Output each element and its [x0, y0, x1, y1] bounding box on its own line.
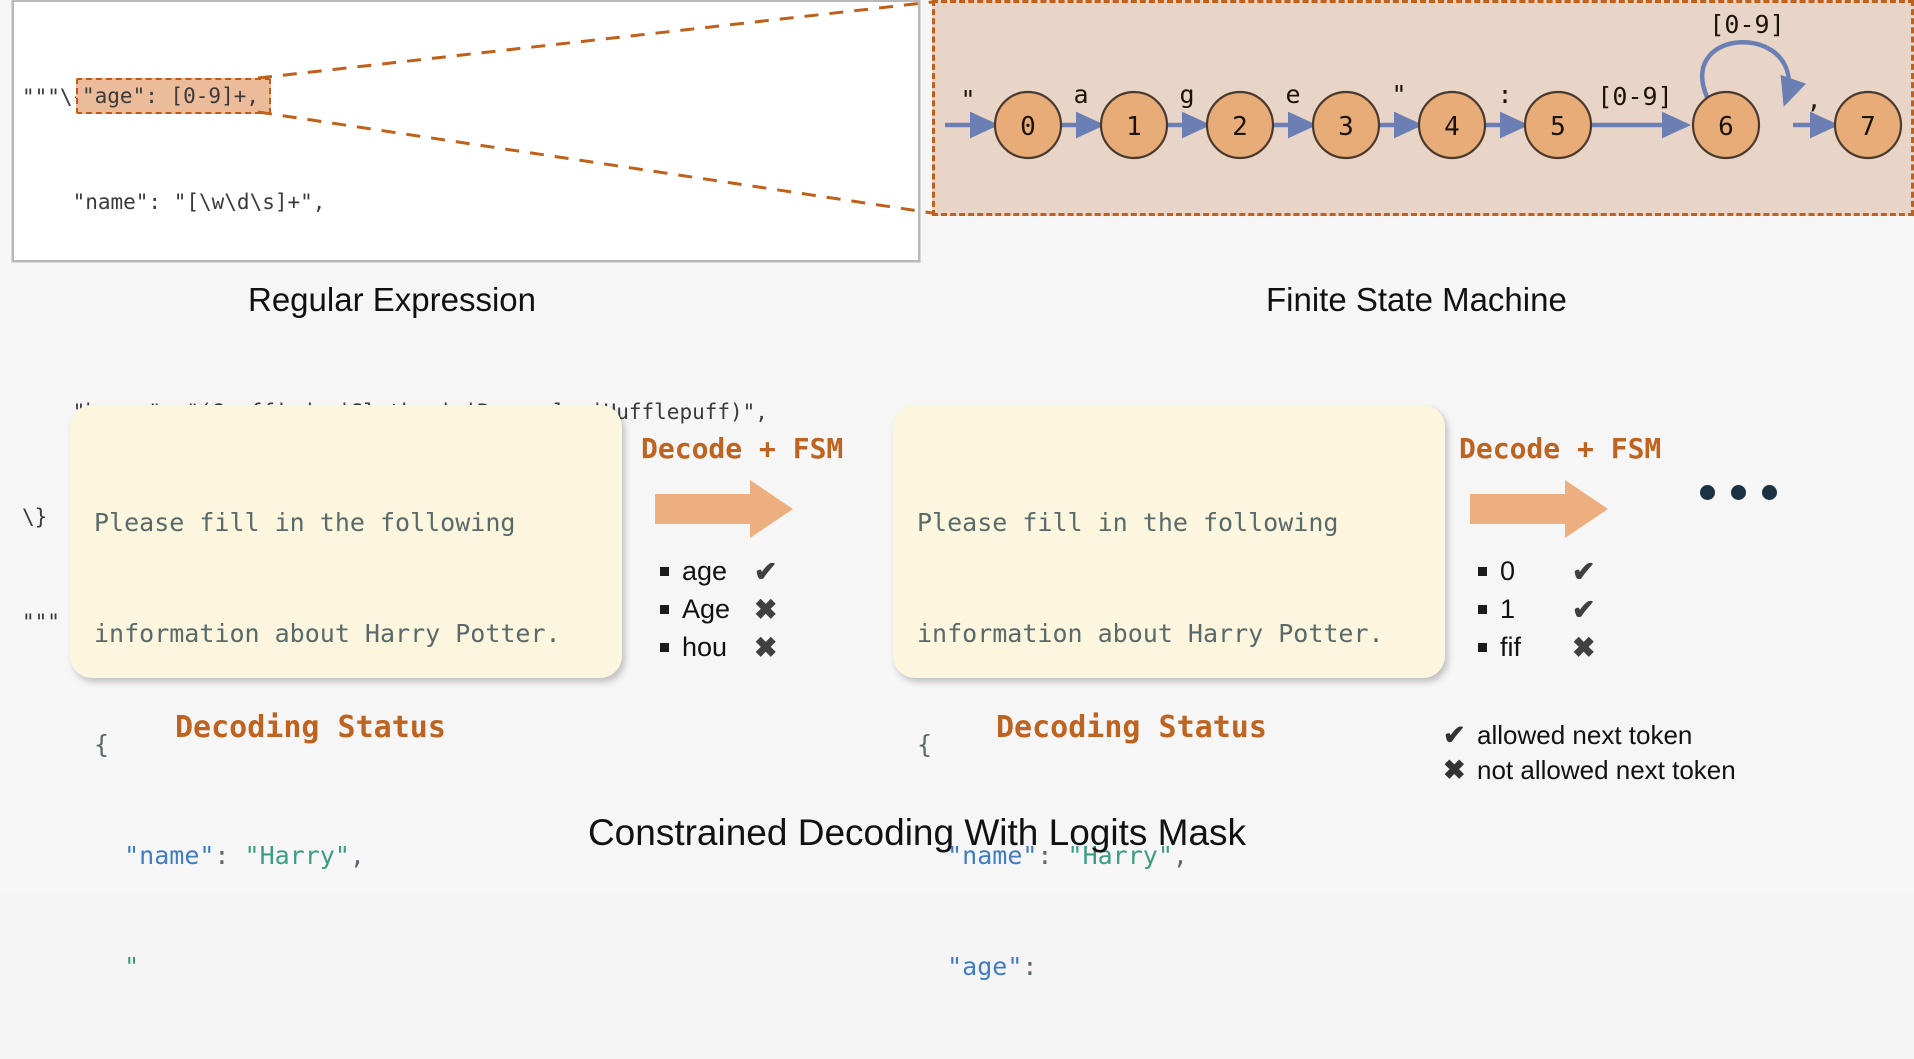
bullet-icon — [1478, 605, 1487, 614]
fsm-panel: 0 1 2 3 4 5 6 7 " a g e " : [0-9] [0-9] … — [932, 0, 1914, 216]
fsm-node-label-1: 1 — [1126, 112, 1142, 142]
prompt-line-2a: Please fill in the following — [917, 504, 1384, 541]
fsm-edge-label-6-7: , — [1806, 85, 1821, 114]
regex-age-highlight-text: "age": [0-9]+, — [82, 80, 259, 113]
token-row: 0 ✔ — [1478, 552, 1595, 590]
cross-icon: ✖ — [754, 631, 777, 664]
legend-not-allowed-text: not allowed next token — [1477, 755, 1736, 786]
fsm-node-label-2: 2 — [1232, 112, 1248, 142]
regex-line-1: "name": "[\w\d\s]+", — [22, 185, 768, 220]
fsm-node-label-0: 0 — [1020, 112, 1036, 142]
fsm-node-label-6: 6 — [1718, 112, 1734, 142]
ellipsis-dot — [1700, 485, 1715, 500]
decode-arrow-icon-2 — [1470, 478, 1610, 540]
token-row: hou ✖ — [660, 628, 777, 666]
decoding-status-label-1: Decoding Status — [175, 710, 446, 745]
fsm-edge-label-3-4: " — [1391, 80, 1406, 109]
decode-fsm-label-2: Decode + FSM — [1459, 432, 1661, 465]
token-label: hou — [682, 632, 750, 663]
bullet-icon — [660, 567, 669, 576]
token-row: 1 ✔ — [1478, 590, 1595, 628]
check-icon: ✔ — [1572, 593, 1595, 626]
ellipsis-dot — [1731, 485, 1746, 500]
fsm-edge-label-4-5: : — [1497, 80, 1512, 109]
bullet-icon — [1478, 643, 1487, 652]
check-icon: ✔ — [754, 555, 777, 588]
fsm-node-label-5: 5 — [1550, 112, 1566, 142]
fsm-node-label-7: 7 — [1860, 112, 1876, 142]
legend-allowed-text: allowed next token — [1477, 720, 1692, 751]
token-label: age — [682, 556, 750, 587]
token-row: age ✔ — [660, 552, 777, 590]
bullet-icon — [660, 643, 669, 652]
caption-finite-state-machine: Finite State Machine — [1266, 281, 1567, 319]
legend-row-not-allowed: ✖ not allowed next token — [1443, 753, 1736, 788]
fsm-edge-label-2-3: e — [1285, 80, 1300, 109]
token-row: Age ✖ — [660, 590, 777, 628]
regex-panel: """\{ "name": "[\w\d\s]+", "house": "(Gr… — [12, 0, 920, 262]
fsm-edge-label-5-6: [0-9] — [1597, 82, 1672, 111]
fsm-edge-labels: " a g e " : [0-9] [0-9] , — [960, 10, 1821, 114]
bullet-icon — [1478, 567, 1487, 576]
decode-arrow-icon-1 — [655, 478, 795, 540]
token-label: fif — [1500, 632, 1568, 663]
fsm-diagram: 0 1 2 3 4 5 6 7 " a g e " : [0-9] [0-9] … — [935, 3, 1914, 219]
json-partial-quote-1: " — [124, 952, 139, 981]
fsm-edge-label-start: " — [960, 85, 975, 114]
prompt-json-line-age-2: "age": — [917, 948, 1384, 985]
decoding-status-label-2: Decoding Status — [996, 710, 1267, 745]
token-label: 1 — [1500, 594, 1568, 625]
token-candidate-list-2: 0 ✔ 1 ✔ fif ✖ — [1478, 552, 1595, 666]
token-label: Age — [682, 594, 750, 625]
caption-regular-expression: Regular Expression — [248, 281, 536, 319]
fsm-edge-label-1-2: g — [1179, 80, 1194, 109]
json-key-age-2: "age" — [947, 952, 1022, 981]
token-row: fif ✖ — [1478, 628, 1595, 666]
prompt-line-1a: Please fill in the following — [94, 504, 561, 541]
legend-row-allowed: ✔ allowed next token — [1443, 718, 1736, 753]
legend: ✔ allowed next token ✖ not allowed next … — [1443, 718, 1736, 788]
cross-icon: ✖ — [1443, 755, 1477, 786]
prompt-line-1b: information about Harry Potter. — [94, 615, 561, 652]
ellipsis-icon — [1700, 485, 1777, 500]
prompt-line-2b: information about Harry Potter. — [917, 615, 1384, 652]
json-sep-age-2: : — [1022, 952, 1037, 981]
fsm-edge-label-0-1: a — [1073, 80, 1088, 109]
cross-icon: ✖ — [1572, 631, 1595, 664]
fsm-node-label-4: 4 — [1444, 112, 1460, 142]
cross-icon: ✖ — [754, 593, 777, 626]
prompt-box-step-1: Please fill in the following information… — [70, 405, 622, 678]
bullet-icon — [660, 605, 669, 614]
prompt-box-step-2: Please fill in the following information… — [893, 405, 1445, 678]
fsm-edge-label-6-6-selfloop: [0-9] — [1709, 10, 1784, 39]
check-icon: ✔ — [1572, 555, 1595, 588]
token-label: 0 — [1500, 556, 1568, 587]
fsm-node-label-3: 3 — [1338, 112, 1354, 142]
figure-title-text: Constrained Decoding With Logits Mask — [588, 812, 1246, 853]
token-candidate-list-1: age ✔ Age ✖ hou ✖ — [660, 552, 777, 666]
prompt-json-partial-1: " — [94, 948, 561, 985]
ellipsis-dot — [1762, 485, 1777, 500]
decode-fsm-label-1: Decode + FSM — [641, 432, 843, 465]
check-icon: ✔ — [1443, 720, 1477, 751]
figure-title: Constrained Decoding With Logits Mask — [0, 812, 1914, 854]
